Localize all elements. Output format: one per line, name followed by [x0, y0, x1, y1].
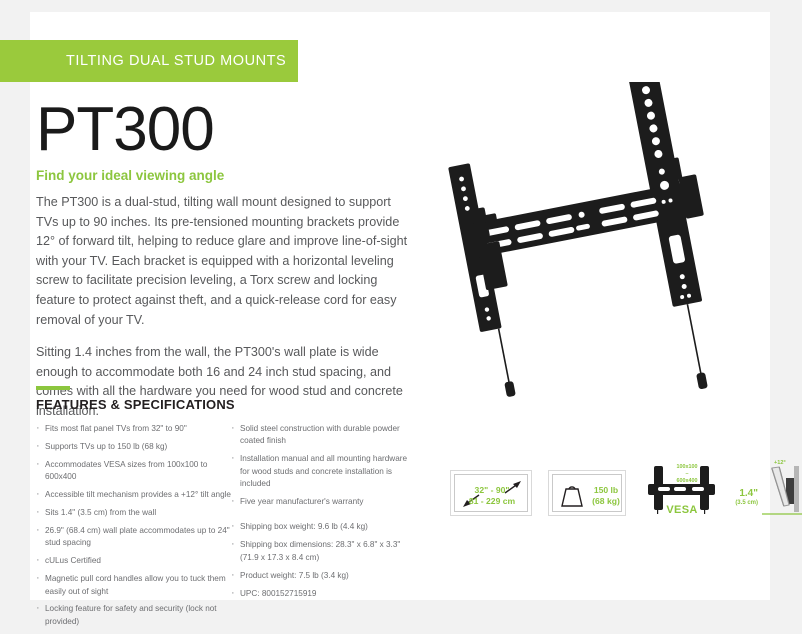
badge-vesa: 100x100 – 600x400 VESA: [642, 460, 732, 526]
badge-weight-lb: 150 lb: [587, 485, 625, 496]
list-item: Magnetic pull cord handles allow you to …: [36, 573, 231, 598]
product-description-paragraph-1: The PT300 is a dual-stud, tilting wall m…: [36, 193, 414, 330]
spec-sheet-page: TILTING DUAL STUD MOUNTS PT300 Find your…: [30, 12, 770, 600]
category-banner-label: TILTING DUAL STUD MOUNTS: [66, 53, 286, 69]
list-item: 26.9" (68.4 cm) wall plate accommodates …: [36, 525, 231, 550]
badge-vesa-dash: –: [664, 471, 710, 478]
product-photo: [430, 82, 770, 432]
list-item: Fits most flat panel TVs from 32" to 90": [36, 423, 231, 435]
features-right-list-group-1: Solid steel construction with durable po…: [231, 423, 411, 508]
list-item: Sits 1.4" (3.5 cm) from the wall: [36, 507, 231, 519]
features-right-column: Solid steel construction with durable po…: [231, 423, 411, 634]
list-item: Accommodates VESA sizes from 100x100 to …: [36, 459, 231, 484]
section-accent-rule: [36, 386, 70, 390]
list-item: Locking feature for safety and security …: [36, 603, 231, 628]
product-subheading: Find your ideal viewing angle: [36, 168, 426, 183]
features-section-title: FEATURES & SPECIFICATIONS: [36, 397, 426, 412]
list-item: Shipping box dimensions: 28.3" x 6.8" x …: [231, 539, 411, 564]
badge-vesa-label: VESA: [655, 504, 709, 516]
list-item: UPC: 800152715919: [231, 588, 411, 600]
spec-badges-row: 32" - 90" 81 - 229 cm 150 lb (68 kg): [420, 452, 770, 527]
list-item: cULus Certified: [36, 555, 231, 567]
features-right-list-group-2: Shipping box weight: 9.6 lb (4.4 kg)Ship…: [231, 521, 411, 600]
list-item: Accessible tilt mechanism provides a +12…: [36, 489, 231, 501]
badge-depth-tilt: +12° 1.4" (3.5 cm): [740, 462, 802, 524]
badge-vesa-min: 100x100: [664, 464, 710, 471]
list-item: Solid steel construction with durable po…: [231, 423, 411, 448]
list-item: Shipping box weight: 9.6 lb (4.4 kg): [231, 521, 411, 533]
badge-depth-inches: 1.4": [730, 488, 758, 499]
features-specifications-section: FEATURES & SPECIFICATIONS Fits most flat…: [36, 386, 426, 634]
badge-weight-kg: (68 kg): [587, 496, 625, 507]
badge-weight-capacity: 150 lb (68 kg): [548, 470, 626, 516]
badge-screen-size-inches: 32" - 90": [451, 485, 533, 496]
weight-icon: [559, 480, 585, 508]
list-item: Product weight: 7.5 lb (3.4 kg): [231, 570, 411, 582]
badge-screen-size-cm: 81 - 229 cm: [451, 496, 533, 507]
list-item: Five year manufacturer's warranty: [231, 496, 411, 508]
badge-screen-size: 32" - 90" 81 - 229 cm: [450, 470, 532, 516]
badge-vesa-max: 600x400: [664, 478, 710, 485]
list-item: Installation manual and all mounting har…: [231, 453, 411, 490]
features-left-column: Fits most flat panel TVs from 32" to 90"…: [36, 423, 231, 634]
product-intro: PT300 Find your ideal viewing angle The …: [36, 94, 426, 435]
badge-depth-cm: (3.5 cm): [728, 500, 758, 506]
features-left-list: Fits most flat panel TVs from 32" to 90"…: [36, 423, 231, 628]
product-model-title: PT300: [36, 94, 426, 166]
list-item: Supports TVs up to 150 lb (68 kg): [36, 441, 231, 453]
tilt-side-view-icon: [756, 462, 802, 522]
category-banner: TILTING DUAL STUD MOUNTS: [0, 40, 298, 82]
badge-tilt-angle: +12°: [774, 460, 786, 466]
